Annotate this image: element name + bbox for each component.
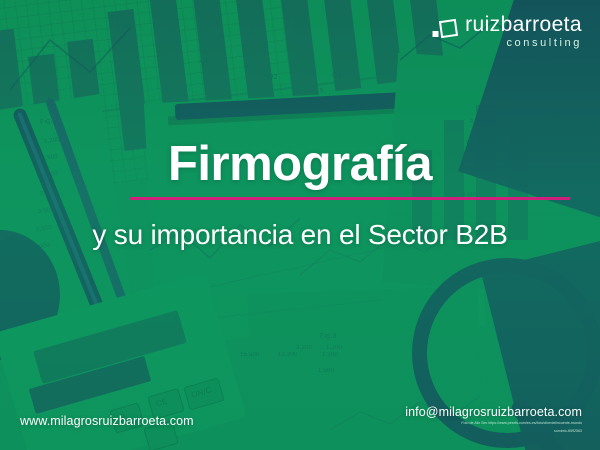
logo-text: ruizbarroeta consulting xyxy=(465,14,582,49)
footer-contact: info@milagrosruizbarroeta.com Foto de Al… xyxy=(405,405,582,434)
logo-name: ruizbarroeta xyxy=(465,14,582,35)
footer-email[interactable]: info@milagrosruizbarroeta.com xyxy=(405,405,582,419)
logo-tagline: consulting xyxy=(465,38,582,49)
brand-logo[interactable]: ruizbarroeta consulting xyxy=(432,14,582,49)
footer-photo-credit-line1: Foto de Alix Sec https://www.pexels.com/… xyxy=(405,421,582,426)
footer-photo-credit-line2: sombrio-6592563 xyxy=(405,429,582,434)
page-subtitle: y su importancia en el Sector B2B xyxy=(0,220,600,251)
poster-canvas: 8 7 6 5 10 11 12 Q2 Q3 Q1 Fig.5 5,200 4,… xyxy=(0,0,600,450)
square-outline-icon xyxy=(432,18,458,42)
foreground-layer: ruizbarroeta consulting Firmografía y su… xyxy=(0,0,600,450)
page-title: Firmografía xyxy=(0,140,600,189)
footer-website[interactable]: www.milagrosruizbarroeta.com xyxy=(20,414,194,428)
accent-rule xyxy=(130,197,570,200)
